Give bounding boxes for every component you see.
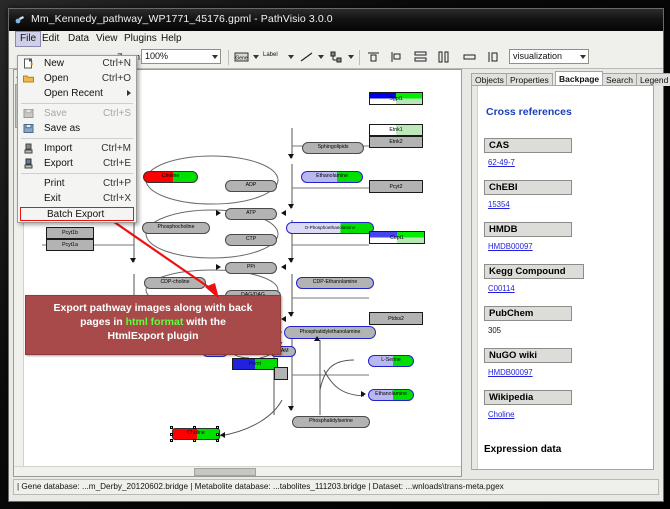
node-label: O-Phosphoethanolamine xyxy=(305,226,356,231)
gene-label: Cept1 xyxy=(370,235,424,241)
node-label: Phosphatidylserine xyxy=(309,419,353,424)
line-dropdown-icon[interactable] xyxy=(318,55,324,59)
menu-item-label: Export xyxy=(44,158,73,169)
xref-value-hmdb[interactable]: HMDB00097 xyxy=(488,242,533,251)
same-width-icon[interactable] xyxy=(461,49,478,65)
menu-item-label: New xyxy=(44,58,64,69)
datanode-icon[interactable]: Gene xyxy=(233,49,250,65)
gene-etnk2[interactable]: Etnk2 xyxy=(369,136,423,148)
interaction-dropdown-icon[interactable] xyxy=(348,55,354,59)
node-ethanolamine[interactable]: Ethanolamine xyxy=(301,171,363,183)
line-icon[interactable] xyxy=(298,49,315,65)
panel-gutter xyxy=(472,86,478,469)
menu-item-accel: Ctrl+N xyxy=(102,56,131,71)
side-panel: Objects Properties Backpage Search Legen… xyxy=(465,69,659,477)
gene-label: Etnk1 xyxy=(370,127,422,133)
file-menu-dropdown[interactable]: New Ctrl+N Open Ctrl+O Open Recent Save xyxy=(17,55,137,223)
node-o-phosphoethanolamine[interactable]: O-Phosphoethanolamine xyxy=(286,222,374,234)
submenu-arrow-icon xyxy=(127,90,131,96)
menu-item-accel: Ctrl+X xyxy=(103,191,131,206)
arrow-up-icon xyxy=(314,336,320,341)
xref-value-nugo[interactable]: HMDB00097 xyxy=(488,368,533,377)
label-tool-label[interactable]: Label xyxy=(263,52,278,58)
menu-item-print[interactable]: Print Ctrl+P xyxy=(18,176,136,191)
xref-value-pubchem: 305 xyxy=(488,326,501,335)
expression-data-title: Expression data xyxy=(484,444,561,455)
xref-value-chebi[interactable]: 15354 xyxy=(488,200,510,209)
menu-edit[interactable]: Edit xyxy=(38,32,63,46)
pathvisio-icon xyxy=(14,14,26,26)
visualization-value: visualization xyxy=(513,51,562,61)
export-icon xyxy=(23,158,34,169)
menu-separator xyxy=(21,173,133,174)
zoom-value: 100% xyxy=(145,51,168,61)
gene-cept1[interactable]: Cept1 xyxy=(369,231,425,244)
xref-header-cas: CAS xyxy=(484,138,572,153)
node-label: Ethanolamine xyxy=(375,392,407,397)
interaction-icon[interactable] xyxy=(328,49,345,65)
gene-label: Ptdss2 xyxy=(370,316,422,322)
gene-label: Pcyt2 xyxy=(370,184,422,190)
node-phosphatidylserine[interactable]: Phosphatidylserine xyxy=(292,416,370,428)
arrow-right-icon xyxy=(361,391,366,397)
menu-item-new[interactable]: New Ctrl+N xyxy=(18,56,136,71)
menu-help[interactable]: Help xyxy=(157,32,186,46)
node-sphingolipids[interactable]: Sphingolipids xyxy=(302,142,364,154)
xref-header-hmdb: HMDB xyxy=(484,222,572,237)
xref-header-wikipedia: Wikipedia xyxy=(484,390,572,405)
xref-value-wikipedia[interactable]: Choline xyxy=(488,410,514,419)
menu-data[interactable]: Data xyxy=(64,32,93,46)
xref-value-kegg[interactable]: C00114 xyxy=(488,284,515,293)
arrow-down-icon xyxy=(288,312,294,317)
visualization-combo[interactable]: visualization xyxy=(509,49,589,64)
menu-item-label: Open Recent xyxy=(44,88,103,99)
menu-item-label: Save xyxy=(44,108,67,119)
node-label: Sphingolipids xyxy=(318,145,349,150)
annotation-line-2-post: with the xyxy=(183,316,226,328)
distribute-vertical-icon[interactable] xyxy=(412,49,429,65)
gene-label: Sgpl1 xyxy=(370,96,422,102)
menu-item-label: Batch Export xyxy=(47,209,104,220)
xref-value-cas[interactable]: 62-49-7 xyxy=(488,158,515,167)
canvas-horizontal-scrollbar[interactable] xyxy=(14,466,461,476)
align-top-icon[interactable] xyxy=(365,49,382,65)
menu-item-label: Print xyxy=(44,178,65,189)
menu-item-label: Exit xyxy=(44,193,61,204)
node-label: Choline xyxy=(187,431,205,436)
node-phosphatidylethanolamine[interactable]: Phosphatidylethanolamine xyxy=(284,326,376,339)
label-dropdown-icon[interactable] xyxy=(288,55,294,59)
gene-label: Pemt xyxy=(233,361,277,367)
menu-plugins[interactable]: Plugins xyxy=(120,32,161,46)
menu-separator xyxy=(21,103,133,104)
status-bar: | Gene database: ...m_Derby_20120602.bri… xyxy=(13,479,659,495)
menu-item-label: Import xyxy=(44,143,72,154)
annotation-line-3: HtmlExport plugin xyxy=(32,329,274,343)
menu-item-exit[interactable]: Exit Ctrl+X xyxy=(18,191,136,206)
menu-item-accel: Ctrl+O xyxy=(102,71,131,86)
arrow-left-icon xyxy=(220,432,225,438)
xref-header-chebi: ChEBI xyxy=(484,180,572,195)
node-label: Ethanolamine xyxy=(316,174,348,179)
xref-header-nugo: NuGO wiki xyxy=(484,348,572,363)
menu-item-open[interactable]: Open Ctrl+O xyxy=(18,71,136,86)
menu-item-accel: Ctrl+P xyxy=(103,176,131,191)
node-label: CDP-Ethanolamine xyxy=(313,280,357,285)
distribute-horizontal-icon[interactable] xyxy=(436,49,453,65)
import-icon xyxy=(23,143,34,154)
node-cdp-ethanolamine[interactable]: CDP-Ethanolamine xyxy=(296,277,374,289)
arrow-left-icon xyxy=(281,210,286,216)
node-ethanolamine-2[interactable]: Ethanolamine xyxy=(368,389,414,401)
gene-pcyt2[interactable]: Pcyt2 xyxy=(369,180,423,193)
backpage-content: Cross references CAS 62-49-7 ChEBI 15354… xyxy=(471,85,654,470)
annotation-highlight: html format xyxy=(126,316,184,328)
application-window: Mm_Kennedy_pathway_WP1771_45176.gpml - P… xyxy=(8,8,664,502)
node-label: Choline xyxy=(162,174,180,179)
xref-header-kegg: Kegg Compound xyxy=(484,264,584,279)
same-height-icon[interactable] xyxy=(485,49,502,65)
panel-tab-strip: Objects Properties Backpage Search Legen… xyxy=(471,71,659,86)
title-bar: Mm_Kennedy_pathway_WP1771_45176.gpml - P… xyxy=(9,9,663,32)
arrow-left-icon xyxy=(281,316,286,322)
cross-references-title: Cross references xyxy=(486,106,572,118)
menu-item-batch-export[interactable]: Batch Export xyxy=(20,207,134,221)
folder-open-icon xyxy=(23,73,34,84)
arrow-down-icon xyxy=(288,406,294,411)
menu-item-accel: Ctrl+S xyxy=(103,106,131,121)
node-label: Phosphatidylethanolamine xyxy=(300,330,361,335)
menu-item-save[interactable]: Save Ctrl+S xyxy=(18,106,136,121)
save-as-icon xyxy=(23,123,34,134)
annotation-line-2: pages in html format with the xyxy=(32,315,274,329)
gene-etnk1[interactable]: Etnk1 xyxy=(369,124,423,136)
connector-box[interactable] xyxy=(274,367,288,380)
arrow-left-icon xyxy=(281,264,286,270)
xref-header-pubchem: PubChem xyxy=(484,306,572,321)
horizontal-scroll-thumb[interactable] xyxy=(194,468,256,476)
node-l-serine[interactable]: L-Serine xyxy=(368,355,414,367)
gene-pemt[interactable]: Pemt xyxy=(232,358,278,370)
menu-item-import[interactable]: Import Ctrl+M xyxy=(18,141,136,156)
menu-view[interactable]: View xyxy=(92,32,122,46)
menu-item-accel: Ctrl+M xyxy=(101,141,131,156)
chevron-down-icon xyxy=(580,55,586,59)
tab-backpage[interactable]: Backpage xyxy=(555,71,603,86)
node-label: ADP xyxy=(246,183,257,188)
datanode-dropdown-icon[interactable] xyxy=(253,55,259,59)
new-file-icon xyxy=(23,58,34,69)
gene-sgpl1[interactable]: Sgpl1 xyxy=(369,92,423,105)
menu-item-label: Save as xyxy=(44,123,80,134)
menu-separator xyxy=(21,138,133,139)
menu-item-export[interactable]: Export Ctrl+E xyxy=(18,156,136,171)
arrow-down-icon xyxy=(288,258,294,263)
menu-item-label: Open xyxy=(44,73,68,84)
chevron-down-icon xyxy=(212,55,218,59)
zoom-combo[interactable]: 100% xyxy=(141,49,221,64)
gene-label: Etnk2 xyxy=(370,139,422,145)
arrow-down-icon xyxy=(288,204,294,209)
annotation-line-2-pre: pages in xyxy=(80,316,126,328)
window-title: Mm_Kennedy_pathway_WP1771_45176.gpml - P… xyxy=(31,13,333,25)
save-icon xyxy=(23,108,34,119)
svg-text:Gene: Gene xyxy=(235,56,247,62)
menu-item-open-recent[interactable]: Open Recent xyxy=(18,86,136,101)
align-left-icon[interactable] xyxy=(388,49,405,65)
arrow-down-icon xyxy=(288,154,294,159)
menu-item-accel: Ctrl+E xyxy=(103,156,131,171)
menu-bar: File Edit Data View Plugins Help xyxy=(9,31,663,48)
node-choline[interactable]: Choline xyxy=(143,171,198,183)
node-label: L-Serine xyxy=(381,358,401,363)
gene-ptdss2[interactable]: Ptdss2 xyxy=(369,312,423,325)
menu-item-save-as[interactable]: Save as xyxy=(18,121,136,136)
